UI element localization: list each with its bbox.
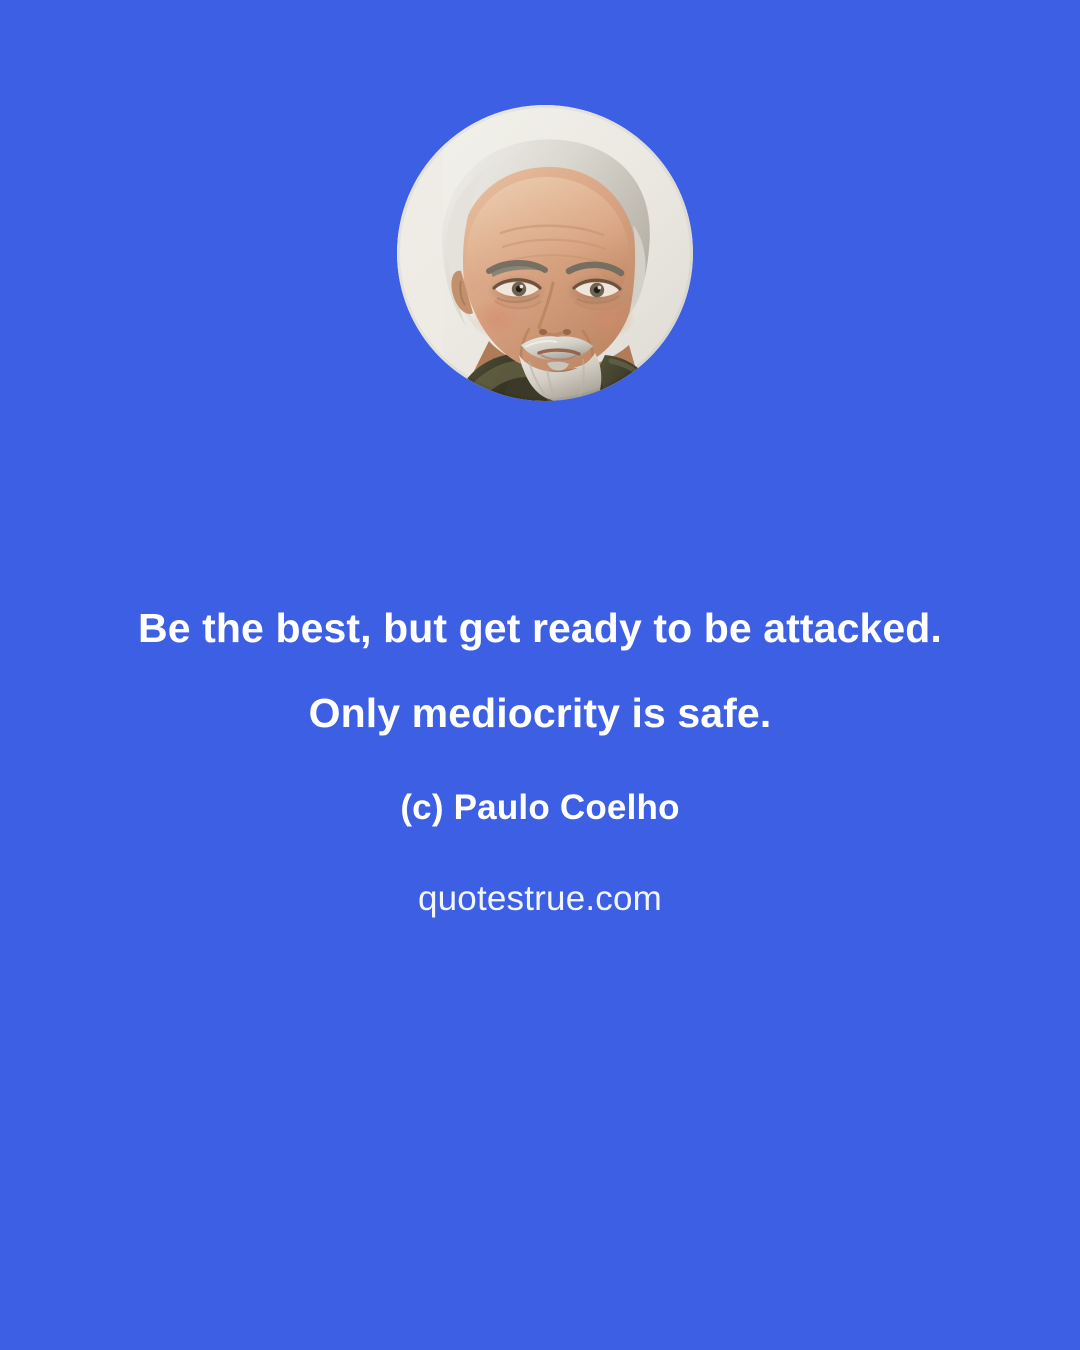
author-portrait-avatar — [397, 105, 693, 401]
quote-line-2: Only mediocrity is safe. — [0, 693, 1080, 734]
author-attribution: (c) Paulo Coelho — [0, 790, 1080, 825]
quote-line-1: Be the best, but get ready to be attacke… — [0, 608, 1080, 649]
avatar — [397, 105, 693, 401]
avatar-circle — [397, 105, 693, 401]
website-credit: quotestrue.com — [0, 881, 1080, 916]
quote-text-block: Be the best, but get ready to be attacke… — [0, 560, 1080, 916]
quote-card: Be the best, but get ready to be attacke… — [0, 0, 1080, 1350]
